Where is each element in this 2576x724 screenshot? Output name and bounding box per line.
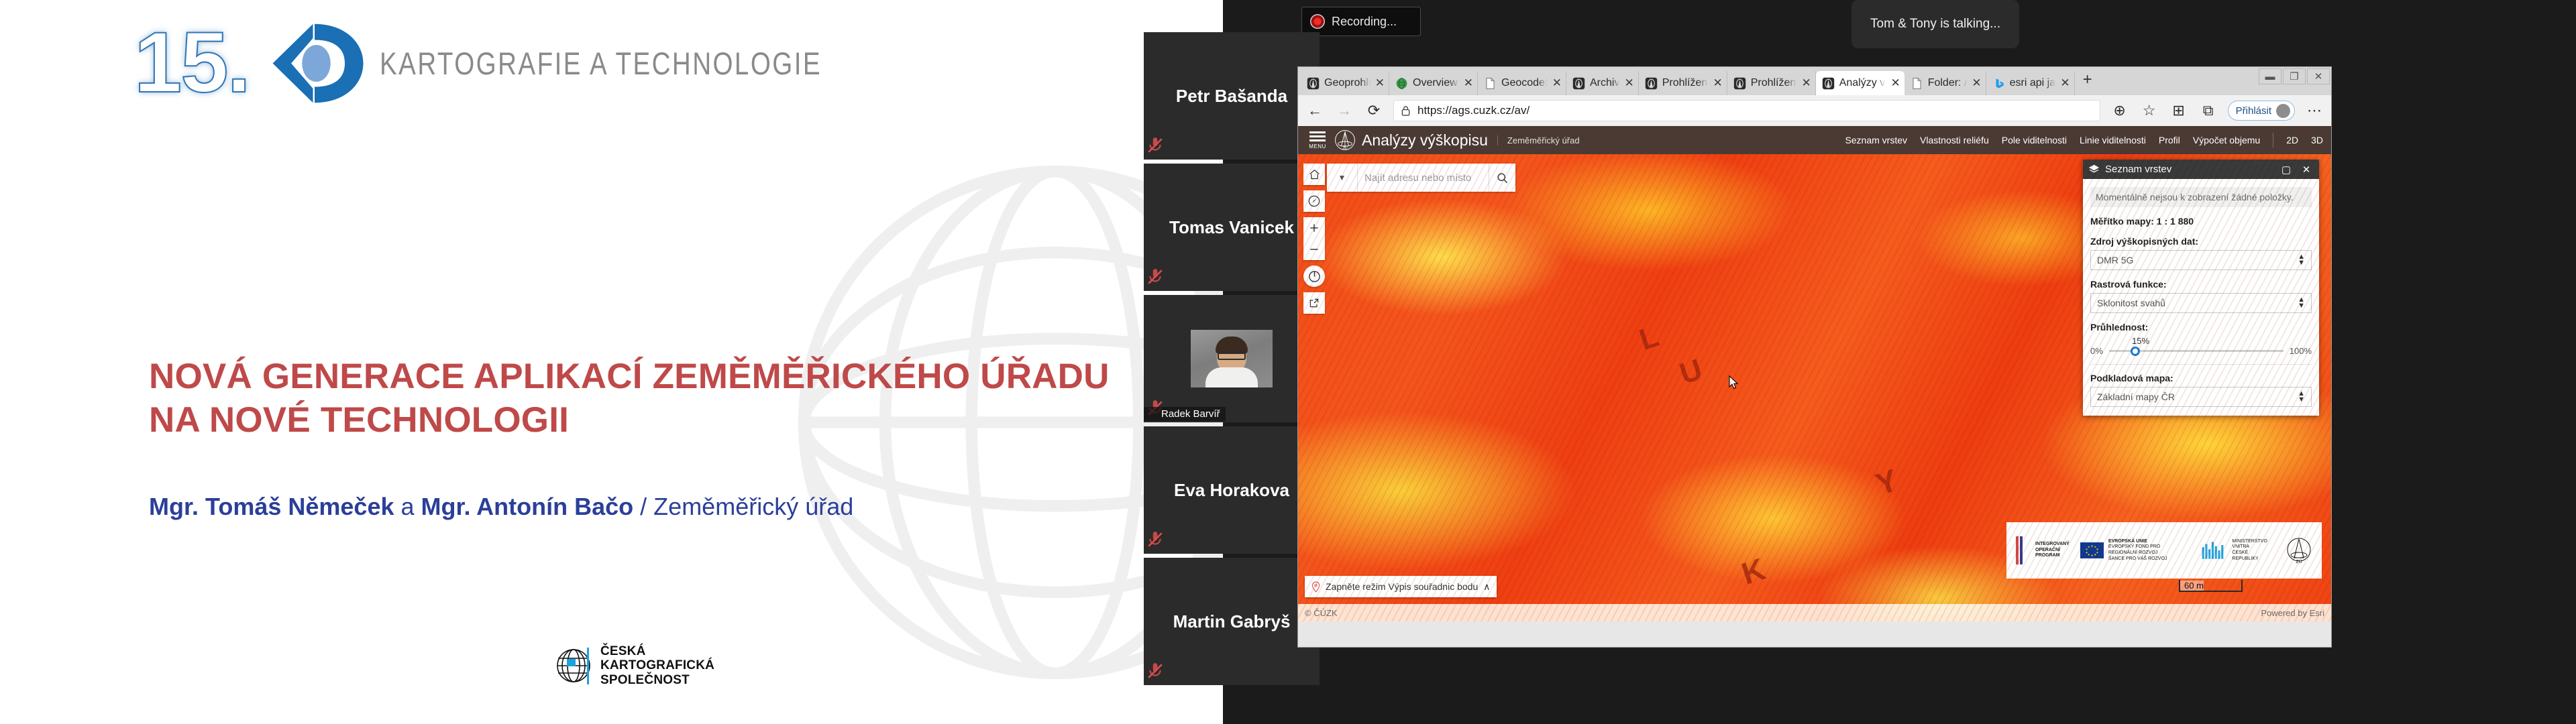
talking-badge: Tom & Tony is talking... [1851,0,2019,48]
new-tab-button[interactable]: + [2075,70,2100,92]
view-mode-2d[interactable]: 2D [2286,135,2298,145]
transparency-slider-wrap: 15% 0% 100% [2090,336,2312,356]
map-canvas[interactable]: L U S K Y ▼ Najít adresu nebo místo [1298,154,2331,621]
collections-icon[interactable]: ⊞ [2169,101,2189,121]
chevron-down-icon[interactable]: ▼ [1327,164,1358,192]
participant-tile[interactable]: Eva Horakova [1144,426,1320,554]
layers-empty-note: Momentálně nejsou k zobrazení žádné polo… [2090,187,2312,207]
participants-list: Petr Bašanda Tomas Vanicek [1144,32,1320,676]
back-button[interactable]: ← [1305,101,1325,121]
raster-function-select[interactable]: Sklonitost svahů ▲▼ [2090,293,2312,313]
tab-close-icon[interactable]: ✕ [1713,76,1722,90]
menu-label: MENU [1309,143,1326,149]
eu-line-2: EVROPSKÝ FOND PRO REGIONÁLNÍ ROZVOJ [2108,544,2190,556]
tab-close-icon[interactable]: ✕ [1801,76,1811,90]
bing-icon [1992,77,2005,90]
browser-tab[interactable]: GeocodeSOE ✕ [1478,71,1566,95]
close-icon[interactable]: ✕ [2299,164,2314,176]
transparency-label: Průhlednost: [2090,322,2312,333]
map-scalebar: 60 m [2179,580,2243,592]
cuzk-icon [1572,77,1585,90]
coordinate-mode-hint[interactable]: Zapněte režim Výpis souřadnic bodu ∧ [1305,576,1497,597]
society-logo: ČESKÁ KARTOGRAFICKÁ SPOLEČNOST [557,644,714,688]
globe-icon [1395,77,1408,90]
tab-label: Geoprohlížeč [1324,77,1371,89]
panel-divider [2090,364,2312,365]
basemap-select[interactable]: Základní mapy ČR ▲▼ [2090,387,2312,407]
chevron-up-icon[interactable]: ∧ [1483,581,1490,593]
avatar-icon [2276,104,2290,118]
attribution-right: Powered by Esri [2261,608,2324,618]
tab-label: GeocodeSOE [1501,77,1548,89]
map-tools [1303,164,1325,319]
recording-label: Recording... [1332,15,1397,29]
slide-title: NOVÁ GENERACE APLIKACÍ ZEMĚMĚŘICKÉHO ÚŘA… [149,355,1169,442]
map-footer-logos: INTEGROVANÝ OPERAČNÍ PROGRAM [2006,522,2322,579]
map-label: K [1737,550,1769,592]
cuzk-icon [1645,77,1658,90]
elevation-source-select[interactable]: DMR 5G ▲▼ [2090,250,2312,270]
slider-min-label: 0% [2090,346,2103,356]
authors-conjunction: a [394,493,421,520]
browser-tab[interactable]: Overview | Ar ✕ [1389,71,1478,95]
window-controls: ▬ ❐ ✕ [2259,68,2330,84]
browser-window: Geoprohlížeč ✕ Overview | Ar ✕ GeocodeSO… [1298,67,2331,647]
map-label: L [1635,320,1663,357]
zu-logo-icon: ZÚ [2286,536,2312,564]
tab-close-icon[interactable]: ✕ [1375,76,1385,90]
layers-panel-title: Seznam vrstev [2105,164,2273,175]
nav-divider [2273,133,2273,147]
search-input[interactable]: Najít adresu nebo místo [1358,164,1489,192]
eye-diamond-logo-icon [264,21,365,105]
page-icon [1484,77,1497,90]
layers-panel-body: Momentálně nejsou k zobrazení žádné polo… [2083,179,2319,416]
compass-button[interactable] [1303,265,1325,287]
attribution-left: © ČÚZK [1305,608,1338,618]
tab-close-icon[interactable]: ✕ [1552,76,1562,90]
tab-label: Analýzy výšk [1839,77,1886,89]
raster-function-label: Rastrová funkce: [2090,279,2312,290]
mic-off-icon [1146,268,1164,286]
slider-knob[interactable] [2131,347,2140,356]
map-label: U [1676,353,1707,391]
signin-label: Přihlásit [2236,105,2271,117]
mvcr-logo-text: MINISTERSTVO VNITRA ČESKÉ REPUBLIKY [2232,539,2275,562]
cuzk-icon [1307,77,1320,90]
minimize-icon[interactable]: ▬ [2259,68,2282,84]
basemap-label: Podkladová mapa: [2090,373,2312,383]
tab-label: Archiv [1590,77,1619,89]
home-button[interactable] [1303,164,1325,185]
presentation-slide: 15. KARTOGRAFIE A TECHNOLOGIE NOVÁ GENER… [0,0,1223,724]
app-nav: Seznam vrstev Vlastnosti reliéfu Pole vi… [1845,133,2323,147]
signin-button[interactable]: Přihlásit [2228,101,2295,121]
tab-label: Overview | Ar [1413,77,1459,89]
spinner-icon: ▲▼ [2298,297,2305,310]
author-1: Mgr. Tomáš Němeček [149,493,394,520]
app-header: MENU ZÚ Analýzy výškopisu Zeměměřický úř… [1298,126,2331,154]
slide-header: 15. KARTOGRAFIE A TECHNOLOGIE [134,20,919,106]
app-subtitle: Zeměměřický úřad [1497,135,1580,145]
tab-label: esri api javas [2010,77,2056,89]
iop-logo-icon: INTEGROVANÝ OPERAČNÍ PROGRAM [2016,535,2070,566]
participant-name: Eva Horakova [1174,480,1289,501]
essentials-icon[interactable]: ⧉ [2198,101,2218,121]
view-mode-3d[interactable]: 3D [2311,135,2323,145]
layers-panel-header: Seznam vrstev ▢ ✕ [2083,160,2319,179]
browser-tab[interactable]: Archiv ✕ [1566,71,1639,95]
lock-icon [1401,105,1411,117]
cuzk-mark-icon: ZÚ [1334,129,1356,151]
browser-tab-active[interactable]: Analýzy výšk ✕ [1816,71,1904,95]
participant-tile[interactable]: Martin Gabryš [1144,558,1320,685]
maximize-icon[interactable]: ▢ [2279,164,2294,176]
globe-grid-logo-icon [557,644,594,688]
zu-label: ZÚ [2296,558,2302,564]
map-label: Y [1871,462,1902,503]
eu-line-1: EVROPSKÁ UNIE [2108,539,2190,545]
tab-close-icon[interactable]: ✕ [1464,76,1473,90]
forward-button[interactable]: → [1334,101,1354,121]
slide-authors: Mgr. Tomáš Němeček a Mgr. Antonín Bačo /… [149,493,853,521]
transparency-value: 15% [2132,336,2312,346]
participant-name: Tomas Vanicek [1169,217,1294,238]
elevation-source-value: DMR 5G [2097,255,2133,265]
mic-off-icon [1146,662,1164,680]
author-2: Mgr. Antonín Bačo [421,493,634,520]
browser-tab[interactable]: Prohlížení arch ✕ [1639,71,1727,95]
participant-tile[interactable]: Radek Barvíř [1144,295,1320,422]
eu-fund-logo-icon: EVROPSKÁ UNIE EVROPSKÝ FOND PRO REGIONÁL… [2080,539,2190,562]
mic-off-icon [1146,137,1164,154]
tab-label: Prohlížení a [1751,77,1797,89]
layers-icon [2088,164,2100,175]
reload-button[interactable]: ⟳ [1364,101,1384,121]
title-line-1: NOVÁ GENERACE APLIKACÍ ZEMĚMĚŘICKÉHO ÚŘA… [149,355,1169,399]
browser-tabstrip: Geoprohlížeč ✕ Overview | Ar ✕ GeocodeSO… [1298,67,2331,95]
iop-line-2: OPERAČNÍ [2035,548,2070,554]
nav-item-pole-viditelnosti[interactable]: Pole viditelnosti [2002,135,2067,145]
zoom-in-button[interactable] [1303,217,1325,239]
nav-item-profil[interactable]: Profil [2159,135,2180,145]
participant-name: Martin Gabryš [1173,611,1291,632]
transparency-slider[interactable]: 0% 100% [2090,346,2312,356]
raster-function-value: Sklonitost svahů [2097,298,2165,308]
browser-tab[interactable]: Folder: / ✕ [1904,71,1986,95]
eu-line-3: ŠANCE PRO VÁŠ ROZVOJ [2108,556,2190,562]
browser-navbar: ← → ⟳ https://ags.cuzk.cz/av/ ⊕ ☆ ⊞ ⧉ Př… [1298,95,2331,126]
map-statusbar: © ČÚZK Powered by Esri [1298,604,2331,621]
spinner-icon: ▲▼ [2298,391,2305,404]
scalebar-label: 60 m [2180,581,2204,591]
participant-video [1191,330,1273,387]
svg-text:ZÚ: ZÚ [1342,146,1347,151]
record-dot-icon [1310,14,1325,29]
edition-number: 15. [134,20,250,106]
mic-off-icon [1146,531,1164,548]
more-dots-icon[interactable]: ⋯ [2304,101,2324,121]
layers-panel: Seznam vrstev ▢ ✕ Momentálně nejsou k zo… [2083,160,2319,416]
screen: 15. KARTOGRAFIE A TECHNOLOGIE NOVÁ GENER… [0,0,2576,724]
tab-close-icon[interactable]: ✕ [1890,76,1900,90]
elevation-source-label: Zdroj výškopisných dat: [2090,236,2312,247]
browser-tab[interactable]: Prohlížení a ✕ [1727,71,1816,95]
eu-fund-logo-text: EVROPSKÁ UNIE EVROPSKÝ FOND PRO REGIONÁL… [2108,539,2190,562]
hamburger-icon[interactable]: MENU [1306,131,1329,149]
basemap-value: Základní mapy ČR [2097,391,2175,402]
tab-close-icon[interactable]: ✕ [1972,76,1981,90]
spinner-icon: ▲▼ [2298,254,2305,267]
page-icon [1911,77,1923,90]
tab-label: Folder: / [1928,77,1968,89]
browser-tab[interactable]: Geoprohlížeč ✕ [1301,71,1389,95]
participant-name: Radek Barvíř [1144,407,1226,421]
iop-logo-text: INTEGROVANÝ OPERAČNÍ PROGRAM [2035,542,2070,559]
cuzk-icon [1822,77,1835,90]
address-bar[interactable]: https://ags.cuzk.cz/av/ [1393,100,2100,121]
share-button[interactable] [1303,292,1325,314]
map-scale-label: Měřítko mapy: 1 : 1 880 [2090,216,2312,227]
star-add-icon[interactable]: ☆ [2139,101,2159,121]
society-line-3: SPOLEČNOST [600,673,714,687]
location-pin-icon [1311,581,1320,593]
my-location-button[interactable] [1303,190,1325,212]
add-circle-icon[interactable]: ⊕ [2110,101,2130,121]
slider-max-label: 100% [2290,346,2312,356]
nav-item-linie-viditelnosti[interactable]: Linie viditelnosti [2080,135,2146,145]
nav-item-vypocet-objemu[interactable]: Výpočet objemu [2193,135,2260,145]
mvcr-logo-icon: MINISTERSTVO VNITRA ČESKÉ REPUBLIKY [2201,538,2275,562]
cuzk-icon [1733,77,1746,90]
participant-tile[interactable]: Tomas Vanicek [1144,164,1320,291]
title-line-2: NA NOVÉ TECHNOLOGII [149,399,1169,442]
mvcr-line-2: ČESKÉ REPUBLIKY [2232,550,2275,562]
tab-close-icon[interactable]: ✕ [1624,76,1633,90]
close-icon[interactable]: ✕ [2307,68,2330,84]
tab-label: Prohlížení arch [1662,77,1709,89]
society-logo-text: ČESKÁ KARTOGRAFICKÁ SPOLEČNOST [600,644,714,687]
zoom-out-button[interactable] [1303,239,1325,260]
participant-name: Petr Bašanda [1176,86,1287,107]
browser-tab[interactable]: esri api javas ✕ [1986,71,2075,95]
conference-title: KARTOGRAFIE A TECHNOLOGIE [380,45,822,82]
address-bar-url: https://ags.cuzk.cz/av/ [1417,104,1529,117]
slider-track[interactable] [2109,350,2284,352]
coordinate-hint-text: Zapněte režim Výpis souřadnic bodu [1326,581,1478,592]
search-icon[interactable] [1489,164,1515,192]
iop-line-3: PROGRAM [2035,553,2070,559]
tab-close-icon[interactable]: ✕ [2060,76,2070,90]
restore-icon[interactable]: ❐ [2283,68,2306,84]
nav-item-vlastnosti-reliefu[interactable]: Vlastnosti reliéfu [1920,135,1989,145]
society-line-1: ČESKÁ [600,644,714,658]
iop-line-1: INTEGROVANÝ [2035,542,2070,548]
authors-affiliation: / Zeměměřický úřad [633,493,853,520]
map-search[interactable]: ▼ Najít adresu nebo místo [1327,164,1515,192]
app-title: Analýzy výškopisu [1362,131,1488,149]
mouse-cursor-icon [1729,375,1739,390]
society-line-2: KARTOGRAFICKÁ [600,658,714,672]
mvcr-line-1: MINISTERSTVO VNITRA [2232,539,2275,551]
participant-tile[interactable]: Petr Bašanda [1144,32,1320,160]
nav-item-seznam-vrstev[interactable]: Seznam vrstev [1845,135,1907,145]
